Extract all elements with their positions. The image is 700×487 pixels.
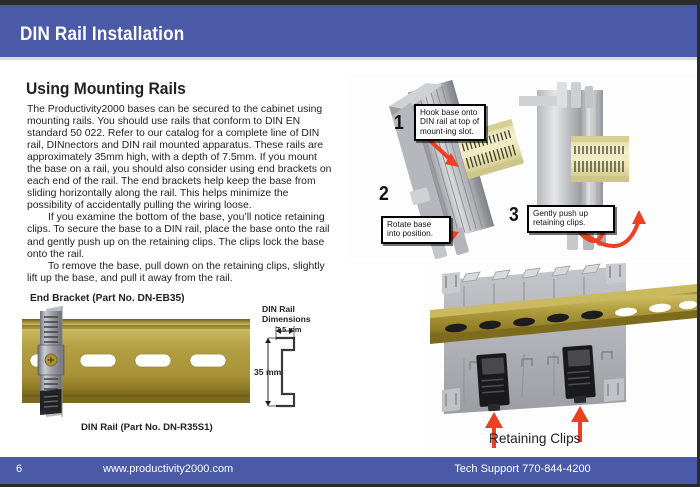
paragraph-1: The Productivity2000 bases can be secure… <box>27 104 333 212</box>
header-underline <box>0 57 700 60</box>
paragraph-2: If you examine the bottom of the base, y… <box>27 212 333 260</box>
step-2-callout: Rotate base into position. <box>381 216 451 244</box>
step-2-number: 2 <box>379 183 389 206</box>
retaining-clip-left <box>476 353 510 411</box>
retaining-clip-right <box>562 345 596 403</box>
section-heading: Using Mounting Rails <box>26 79 186 99</box>
retaining-clips-label: Retaining Clips <box>489 431 580 446</box>
page-header-band: DIN Rail Installation <box>0 5 700 57</box>
dimension-depth-value: 7.5 mm <box>276 325 301 334</box>
footer-tech-support: Tech Support 770-844-4200 <box>350 463 695 475</box>
din-rail-illustration <box>22 305 250 423</box>
page-title: DIN Rail Installation <box>20 24 184 46</box>
footer-page-number: 6 <box>16 463 22 475</box>
step-1-number: 1 <box>394 112 404 135</box>
dimension-height-value: 35 mm <box>254 367 281 377</box>
step-1-callout: Hook base onto DIN rail at top of mount-… <box>414 104 486 141</box>
paragraph-3: To remove the base, pull down on the ret… <box>27 261 333 285</box>
footer-website[interactable]: www.productivity2000.com <box>103 463 233 475</box>
document-page: DIN Rail Installation Using Mounting Rai… <box>0 0 700 487</box>
dimension-figure-title: DIN Rail Dimensions <box>262 305 311 324</box>
dimension-title-line-1: DIN Rail <box>262 304 295 314</box>
din-rail-caption: DIN Rail (Part No. DN-R35S1) <box>81 422 213 433</box>
retaining-clips-photo <box>430 262 697 457</box>
step-3-number: 3 <box>509 204 519 227</box>
step-3-callout: Gently push up retaining clips. <box>527 205 615 233</box>
dimension-title-line-2: Dimensions <box>262 314 311 324</box>
end-bracket-caption: End Bracket (Part No. DN-EB35) <box>30 293 185 304</box>
body-text: The Productivity2000 bases can be secure… <box>27 104 333 285</box>
